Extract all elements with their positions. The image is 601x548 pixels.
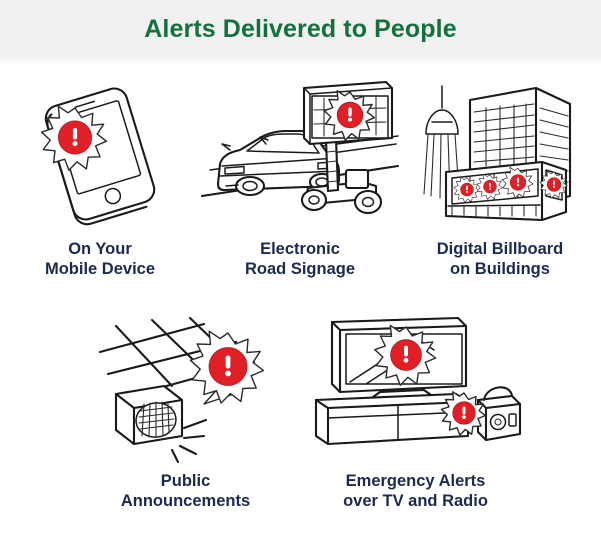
public-address-speaker-alert-icon	[86, 308, 286, 463]
alert-channel-public-announcements: Public Announcements	[71, 308, 301, 512]
smartphone-alert-illustration	[0, 78, 200, 230]
city-building-billboard-alert-icon	[410, 78, 590, 230]
alert-channel-label: On Your Mobile Device	[45, 239, 155, 280]
television-and-radio-alert-icon	[306, 308, 526, 463]
page-title: Alerts Delivered to People	[0, 15, 601, 44]
alert-channel-road-signage: Electronic Road Signage	[200, 78, 400, 280]
tv-radio-alert-illustration	[301, 308, 531, 463]
car-and-road-sign-trailer-alert-icon	[200, 78, 400, 230]
alert-channel-tv-radio: Emergency Alerts over TV and Radio	[301, 308, 531, 512]
infographic-poster: Alerts Delivered to People	[0, 0, 601, 548]
radio-shape	[478, 387, 520, 440]
road-signage-alert-illustration	[200, 78, 400, 230]
alert-channel-digital-billboard: Digital Billboard on Buildings	[400, 78, 600, 280]
speaker-shape	[116, 386, 182, 444]
alert-channel-mobile-device: On Your Mobile Device	[0, 78, 200, 280]
alert-channel-label: Emergency Alerts over TV and Radio	[343, 471, 488, 512]
alert-channel-row-1: On Your Mobile Device	[0, 78, 601, 280]
alert-channel-label: Digital Billboard on Buildings	[437, 239, 564, 280]
alert-channel-row-2: Public Announcements	[0, 308, 601, 512]
alert-channel-label: Electronic Road Signage	[245, 239, 355, 280]
public-address-alert-illustration	[71, 308, 301, 463]
billboard-alert-illustration	[400, 78, 600, 230]
smartphone-alert-icon	[25, 78, 175, 230]
speaker-alert-callout	[190, 331, 263, 404]
alert-channel-label: Public Announcements	[121, 471, 250, 512]
